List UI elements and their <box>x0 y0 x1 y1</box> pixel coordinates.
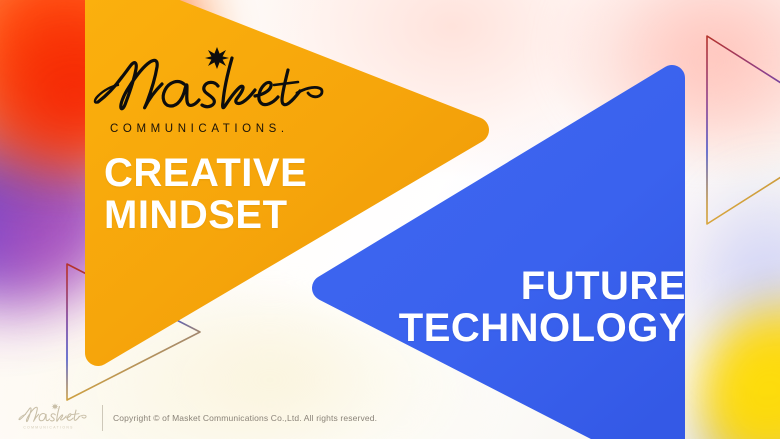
tagline-future-technology: FUTURE TECHNOLOGY <box>356 265 686 350</box>
brand-logo: COMMUNICATIONS. <box>92 44 342 136</box>
brand-logo-svg: COMMUNICATIONS. <box>92 44 342 136</box>
footer-logo-svg: COMMUNICATIONS <box>18 402 92 430</box>
slide-canvas: COMMUNICATIONS. CREATIVE MINDSET FUTURE … <box>0 0 780 439</box>
brand-logo-subtitle: COMMUNICATIONS. <box>110 123 289 135</box>
tagline-creative-mindset: CREATIVE MINDSET <box>104 152 307 237</box>
footer-logo-subtitle: COMMUNICATIONS <box>23 425 73 429</box>
footer-divider <box>102 405 103 431</box>
footer-copyright: Copyright © of Masket Communications Co.… <box>113 413 377 423</box>
eight-point-star-icon <box>205 47 229 69</box>
footer-bar: COMMUNICATIONS Copyright © of Masket Com… <box>0 397 780 439</box>
outline-triangle-top-right <box>707 36 780 224</box>
footer-star-icon <box>51 403 58 410</box>
footer-logo: COMMUNICATIONS <box>18 402 92 435</box>
